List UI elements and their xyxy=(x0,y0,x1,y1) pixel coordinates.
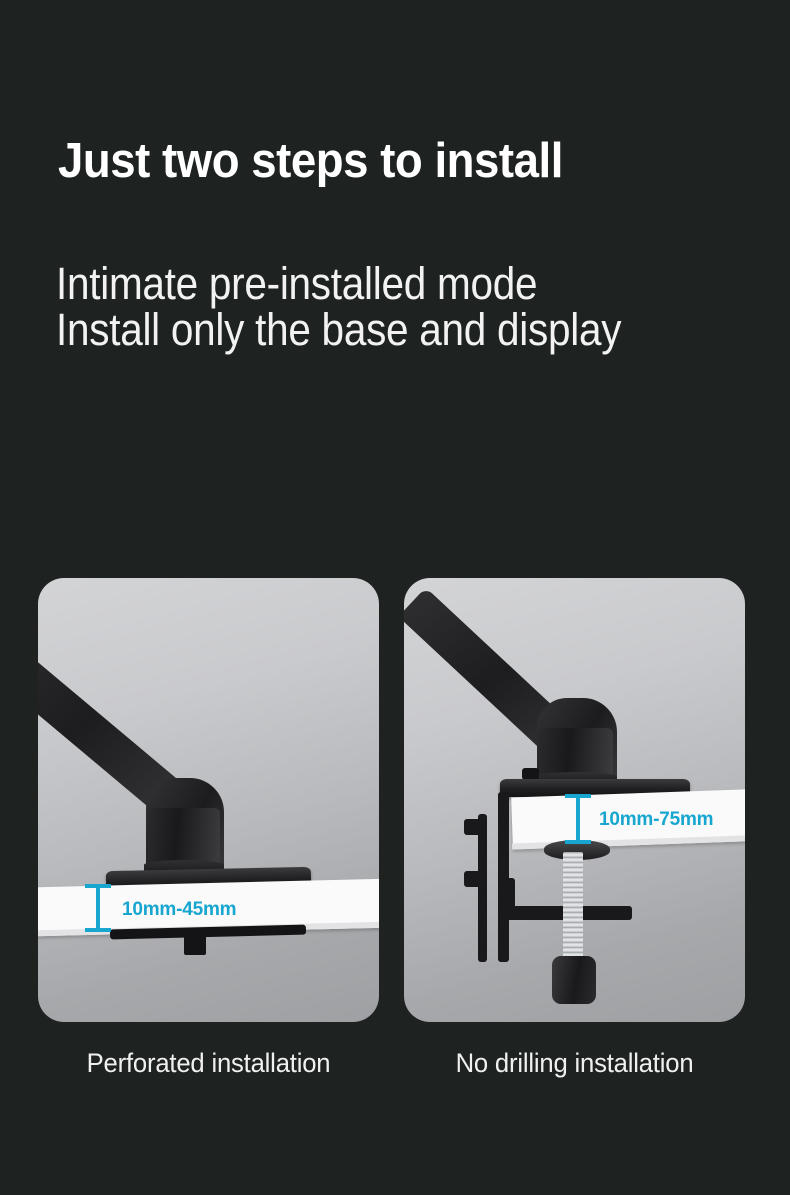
clamp-back-bar-outer xyxy=(478,814,487,962)
subtitle-line-2: Install only the base and display xyxy=(56,307,621,353)
page-title: Just two steps to install xyxy=(58,133,563,189)
dimension-cap-bottom xyxy=(565,840,591,844)
clamp-back-bar xyxy=(498,792,509,962)
subtitle-line-1: Intimate pre-installed mode xyxy=(56,261,621,307)
clamp-tab-lower xyxy=(464,871,486,887)
thickness-dimension-marker-perforated xyxy=(85,884,111,932)
subtitle-block: Intimate pre-installed mode Install only… xyxy=(56,261,621,353)
grommet-bolt xyxy=(184,935,206,955)
thickness-dimension-marker-no-drilling xyxy=(565,794,591,844)
thickness-label-perforated: 10mm-45mm xyxy=(122,899,236,921)
dimension-cap-bottom xyxy=(85,928,111,932)
grommet-mount-illustration: 10mm-45mm xyxy=(38,578,379,1022)
product-image-no-drilling-installation: 10mm-75mm xyxy=(404,578,745,1022)
caption-no-drilling-installation: No drilling installation xyxy=(413,1048,737,1079)
product-image-perforated-installation: 10mm-45mm xyxy=(38,578,379,1022)
dimension-line xyxy=(576,794,580,844)
c-clamp-mount-illustration: 10mm-75mm xyxy=(404,578,745,1022)
thickness-label-no-drilling: 10mm-75mm xyxy=(599,809,713,831)
dimension-line xyxy=(96,884,100,932)
clamp-tab-upper xyxy=(464,819,486,835)
clamp-screw-thread xyxy=(563,852,583,962)
caption-perforated-installation: Perforated installation xyxy=(47,1048,371,1079)
clamp-tightening-knob[interactable] xyxy=(552,956,596,1004)
